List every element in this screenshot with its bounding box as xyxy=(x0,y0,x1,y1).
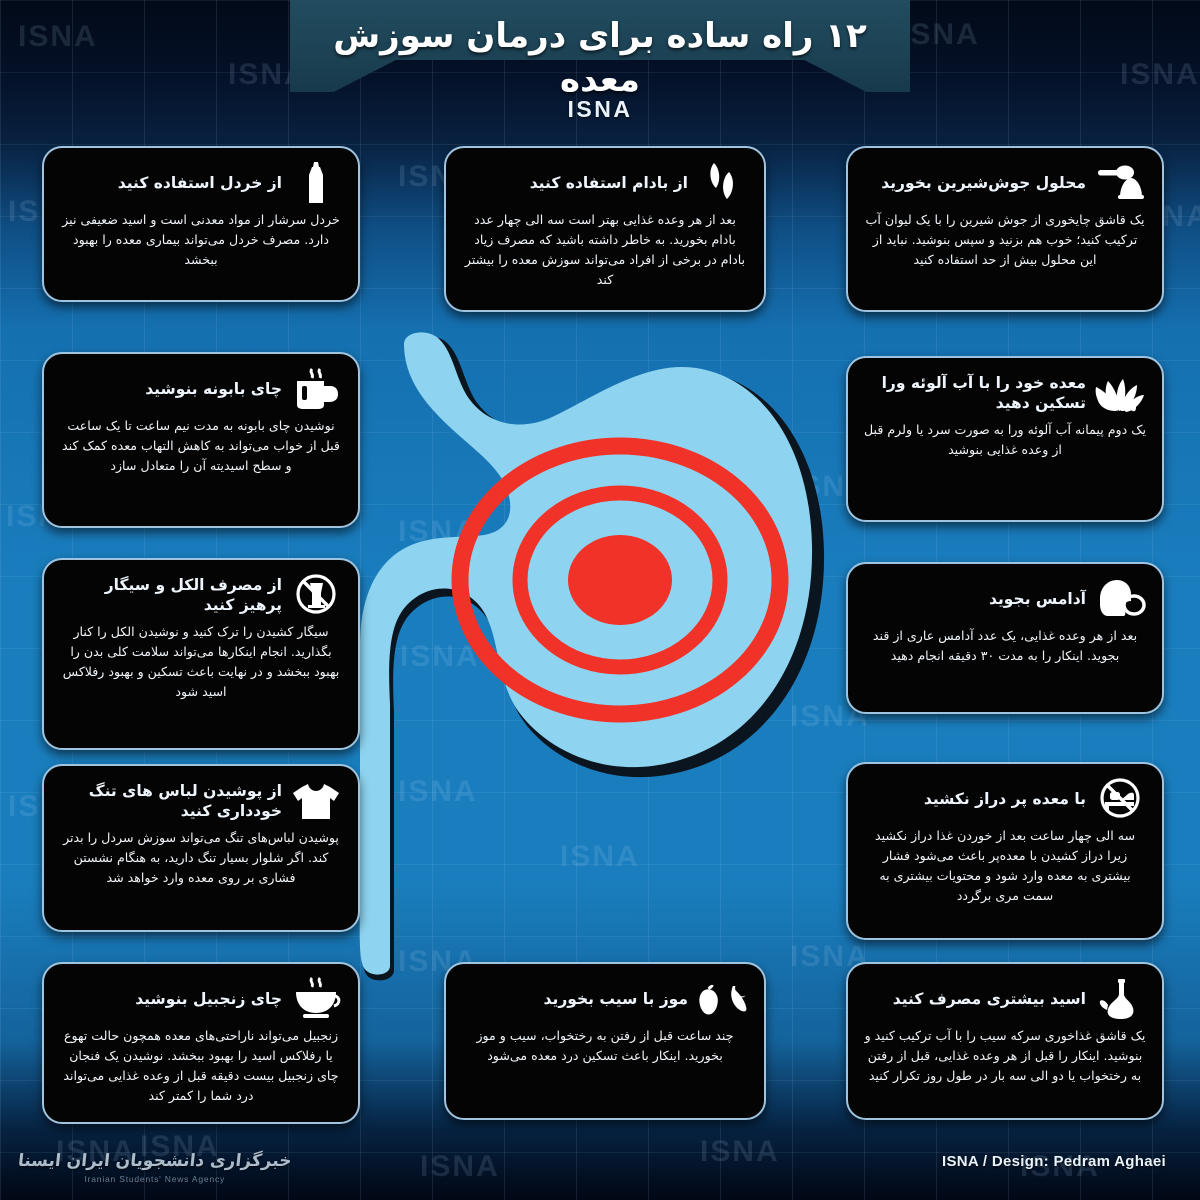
mustard-bottle-icon xyxy=(290,160,342,206)
card-header: چای زنجبیل بنوشید xyxy=(60,976,342,1022)
vinegar-bottle-icon xyxy=(1094,976,1146,1022)
isna-watermark: ISNA xyxy=(900,18,980,52)
card-header: با معده پر دراز نکشید xyxy=(864,776,1146,822)
almond-icon xyxy=(696,160,748,206)
chewing-gum-head-icon xyxy=(1094,576,1146,622)
card-title: چای بابونه بنوشید xyxy=(60,379,282,399)
tip-card-banana-apple[interactable]: موز با سیب بخورید چند ساعت قبل از رفتن ب… xyxy=(444,962,766,1120)
card-header: از بادام استفاده کنید xyxy=(462,160,748,206)
pain-center-dot xyxy=(568,535,672,625)
card-title: از بادام استفاده کنید xyxy=(462,173,688,193)
card-title: از مصرف الکل و سیگار پرهیز کنید xyxy=(60,575,282,615)
card-title: محلول جوش‌شیرین بخورید xyxy=(864,173,1086,193)
card-body: نوشیدن چای بابونه به مدت نیم ساعت تا یک … xyxy=(60,416,342,476)
card-title: با معده پر دراز نکشید xyxy=(864,789,1086,809)
tip-card-no-alcohol-smoking[interactable]: از مصرف الکل و سیگار پرهیز کنید سیگار کش… xyxy=(42,558,360,750)
apple-banana-icon xyxy=(696,976,748,1022)
tip-card-tight-clothes[interactable]: از پوشیدن لباس های تنگ خودداری کنید پوشی… xyxy=(42,764,360,932)
card-title: از خردل استفاده کنید xyxy=(60,173,282,193)
card-header: معده خود را با آب آلوئه ورا تسکین دهید xyxy=(864,370,1146,416)
card-header: از مصرف الکل و سیگار پرهیز کنید xyxy=(60,572,342,618)
card-title: معده خود را با آب آلوئه ورا تسکین دهید xyxy=(864,373,1086,413)
tip-card-chewing-gum[interactable]: آدامس بجوید بعد از هر وعده غذایی، یک عدد… xyxy=(846,562,1164,714)
card-header: موز با سیب بخورید xyxy=(462,976,748,1022)
isna-logo: خبرگزاری دانشجویان ایران ایسنا Iranian S… xyxy=(18,1151,292,1184)
card-body: سه الی چهار ساعت بعد از خوردن غذا دراز ن… xyxy=(864,826,1146,906)
tip-card-chamomile[interactable]: چای بابونه بنوشید نوشیدن چای بابونه به م… xyxy=(42,352,360,528)
card-title: چای زنجبیل بنوشید xyxy=(60,989,282,1009)
no-lying-down-icon xyxy=(1094,776,1146,822)
steaming-mug-icon xyxy=(290,366,342,412)
card-body: یک قاشق چایخوری از جوش شیرین را با یک لی… xyxy=(864,210,1146,270)
card-header: محلول جوش‌شیرین بخورید xyxy=(864,160,1146,206)
card-body: بعد از هر وعده غذایی، یک عدد آدامس عاری … xyxy=(864,626,1146,666)
tip-card-no-lying-down[interactable]: با معده پر دراز نکشید سه الی چهار ساعت ب… xyxy=(846,762,1164,940)
card-header: اسید بیشتری مصرف کنید xyxy=(864,976,1146,1022)
brand-label: ISNA xyxy=(290,96,910,123)
tip-card-more-acid[interactable]: اسید بیشتری مصرف کنید یک قاشق غذاخوری سر… xyxy=(846,962,1164,1120)
stomach-illustration xyxy=(352,330,852,990)
design-credit: ISNA / Design: Pedram Aghaei xyxy=(942,1153,1166,1170)
card-body: خردل سرشار از مواد معدنی است و اسید ضعیف… xyxy=(60,210,342,270)
card-header: چای بابونه بنوشید xyxy=(60,366,342,412)
card-body: چند ساعت قبل از رفتن به رختخواب، سیب و م… xyxy=(462,1026,748,1066)
teacup-icon xyxy=(290,976,342,1022)
card-body: بعد از هر وعده غذایی بهتر است سه الی چها… xyxy=(462,210,748,290)
isna-watermark: ISNA xyxy=(1120,58,1200,92)
tip-card-almond[interactable]: از بادام استفاده کنید بعد از هر وعده غذا… xyxy=(444,146,766,312)
card-title: آدامس بجوید xyxy=(864,589,1086,609)
page-title: ۱۲ راه ساده برای درمان سوزش معده xyxy=(290,14,910,102)
isna-watermark: ISNA xyxy=(420,1150,500,1184)
card-title: اسید بیشتری مصرف کنید xyxy=(864,989,1086,1009)
tip-card-mustard[interactable]: از خردل استفاده کنید خردل سرشار از مواد … xyxy=(42,146,360,302)
isna-watermark: ISNA xyxy=(18,20,98,54)
card-title: از پوشیدن لباس های تنگ خودداری کنید xyxy=(60,781,282,821)
tip-card-baking-soda[interactable]: محلول جوش‌شیرین بخورید یک قاشق چایخوری ا… xyxy=(846,146,1164,312)
no-alcohol-smoking-icon xyxy=(290,572,342,618)
card-title: موز با سیب بخورید xyxy=(462,989,688,1009)
tip-card-aloe-vera[interactable]: معده خود را با آب آلوئه ورا تسکین دهید ی… xyxy=(846,356,1164,522)
card-header: از خردل استفاده کنید xyxy=(60,160,342,206)
isna-logo-fa: خبرگزاری دانشجویان ایران ایسنا xyxy=(17,1151,293,1171)
card-body: زنجبیل می‌تواند ناراحتی‌های معده همچون ح… xyxy=(60,1026,342,1106)
infographic-canvas: ISNAISNAISNAISNAISNAISNAISNAISNAISNAISNA… xyxy=(0,0,1200,1200)
card-header: آدامس بجوید xyxy=(864,576,1146,622)
tip-card-ginger-tea[interactable]: چای زنجبیل بنوشید زنجبیل می‌تواند ناراحت… xyxy=(42,962,360,1124)
spoon-powder-icon xyxy=(1094,160,1146,206)
isna-logo-en: Iranian Students' News Agency xyxy=(18,1174,292,1184)
isna-watermark: ISNA xyxy=(700,1135,780,1169)
card-body: یک قاشق غذاخوری سرکه سیب را با آب ترکیب … xyxy=(864,1026,1146,1086)
t-shirt-icon xyxy=(290,778,342,824)
card-body: پوشیدن لباس‌های تنگ می‌تواند سوزش سردل ر… xyxy=(60,828,342,888)
card-body: یک دوم پیمانه آب آلوئه ورا به صورت سرد ی… xyxy=(864,420,1146,460)
aloe-plant-icon xyxy=(1094,370,1146,416)
card-header: از پوشیدن لباس های تنگ خودداری کنید xyxy=(60,778,342,824)
card-body: سیگار کشیدن را ترک کنید و نوشیدن الکل را… xyxy=(60,622,342,702)
